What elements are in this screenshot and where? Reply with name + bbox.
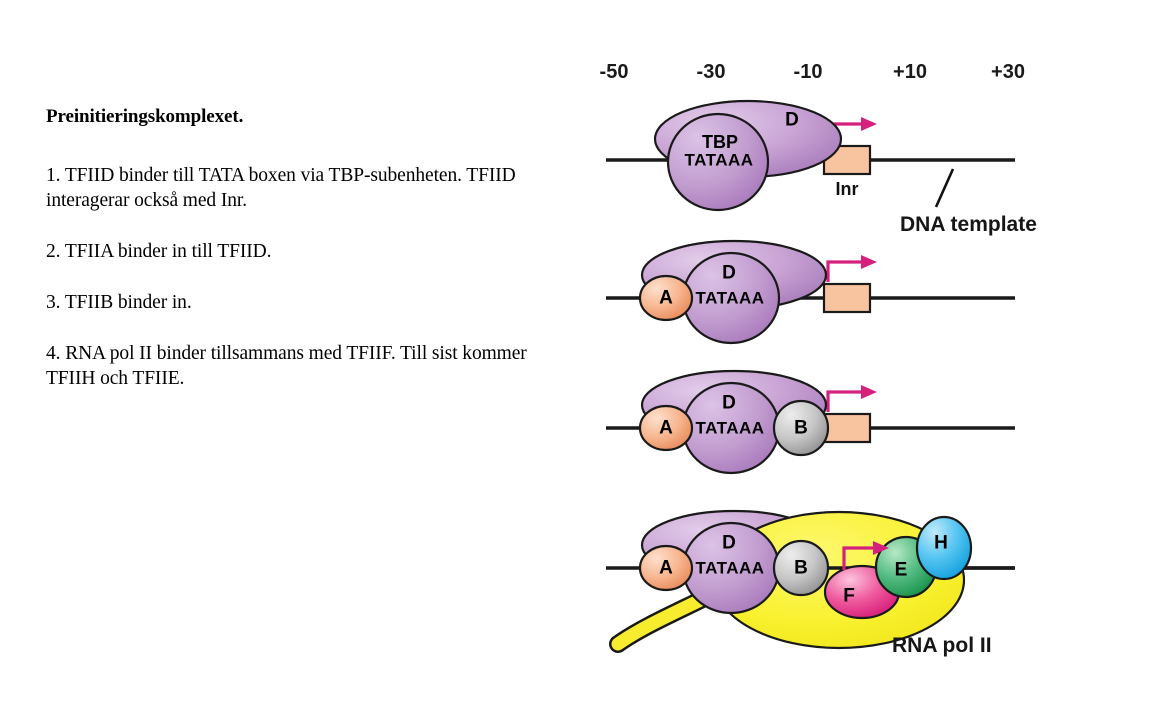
- scale-label-minus-50: -50: [600, 61, 629, 83]
- dna-template-pointer: [936, 169, 953, 207]
- step-4-paragraph: 4. RNA pol II binder tillsammans med TFI…: [46, 341, 546, 391]
- transcription-arrowhead-panel-2: [861, 255, 877, 269]
- step-2-paragraph: 2. TFIIA binder in till TFIID.: [46, 239, 546, 264]
- inr-box-panel-3: [824, 414, 870, 442]
- preinitiation-complex-diagram: -50 -30 -10 +10 +30 D TBP TATAAA Inr DNA…: [596, 40, 1146, 690]
- transcription-arrowhead-panel-1: [861, 117, 877, 131]
- tfiia-label-panel-4: A: [659, 558, 673, 579]
- scale-label-minus-10: -10: [794, 61, 823, 83]
- panel-2-tfiia: D A TATAAA: [606, 241, 1015, 343]
- step-1-paragraph: 1. TFIID binder till TATA boxen via TBP-…: [46, 163, 546, 213]
- tfiie-label-panel-4: E: [895, 560, 908, 581]
- step-3-paragraph: 3. TFIIB binder in.: [46, 290, 546, 315]
- tata-box-label-panel-3: TATAAA: [695, 419, 764, 438]
- tbp-label-panel-1: TBP: [702, 132, 738, 152]
- transcription-arrowhead-panel-3: [861, 385, 877, 399]
- lecture-text-column: Preinitieringskomplexet. 1. TFIID binder…: [46, 104, 546, 417]
- position-scale: -50 -30 -10 +10 +30: [600, 61, 1025, 83]
- panel-4-rna-pol-ii: D A B F E H TATAAA RNA pol II: [606, 511, 1015, 657]
- slide-heading: Preinitieringskomplexet.: [46, 104, 546, 129]
- transcription-start-arrow-panel-2: [828, 262, 864, 282]
- transcription-start-arrow-panel-3: [828, 392, 864, 412]
- tfiid-label-panel-1: D: [785, 110, 799, 131]
- tfiih-label-panel-4: H: [934, 533, 948, 554]
- rna-pol-ii-caption: RNA pol II: [892, 634, 992, 657]
- scale-label-minus-30: -30: [697, 61, 726, 83]
- tata-box-label-panel-1: TATAAA: [684, 151, 753, 170]
- tfiib-label-panel-3: B: [794, 418, 808, 439]
- tfiib-label-panel-4: B: [794, 558, 808, 579]
- tfiid-label-panel-3: D: [722, 393, 736, 414]
- tfiia-label-panel-2: A: [659, 288, 673, 309]
- inr-caption: Inr: [835, 179, 858, 199]
- tfiid-label-panel-2: D: [722, 263, 736, 284]
- dna-template-caption: DNA template: [900, 213, 1037, 236]
- scale-label-plus-30: +30: [991, 61, 1025, 83]
- panel-3-tfiib: D A B TATAAA: [606, 371, 1015, 473]
- tfiia-label-panel-3: A: [659, 418, 673, 439]
- inr-box-panel-2: [824, 284, 870, 312]
- tfiif-label-panel-4: F: [843, 586, 855, 607]
- tata-box-label-panel-4: TATAAA: [695, 559, 764, 578]
- tfiid-label-panel-4: D: [722, 533, 736, 554]
- panel-1-tfiid: D TBP TATAAA Inr DNA template: [606, 101, 1037, 236]
- tata-box-label-panel-2: TATAAA: [695, 289, 764, 308]
- scale-label-plus-10: +10: [893, 61, 927, 83]
